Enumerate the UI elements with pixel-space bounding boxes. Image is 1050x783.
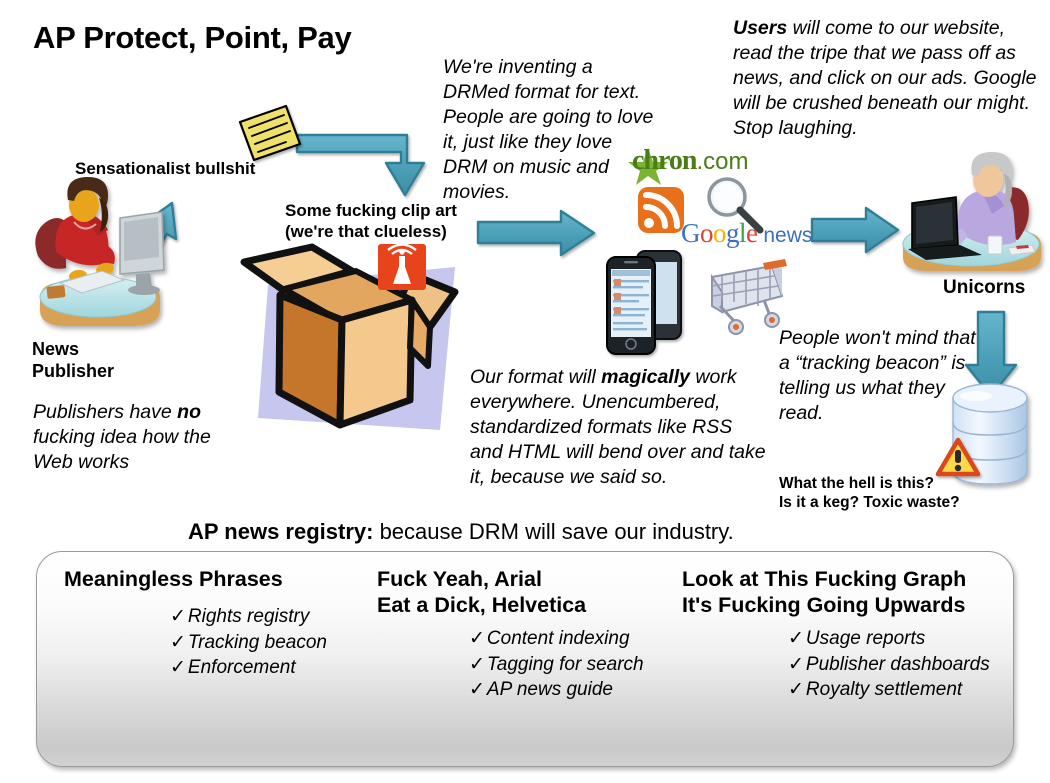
- label-news-publisher-line1: News: [32, 338, 114, 360]
- google-letter-g2: g: [726, 218, 739, 248]
- check-icon: ✓: [469, 654, 485, 675]
- arrow-right-1-icon: [478, 211, 594, 255]
- panel-column-meaningless-phrases: Meaningless Phrases ✓Rights registry ✓Tr…: [64, 566, 327, 681]
- callout-format-magically-works: Our format will magically work everywher…: [470, 365, 770, 490]
- col3-heading-line2: It's Fucking Going Upwards: [682, 592, 990, 618]
- col3-bullet-0: ✓Usage reports: [788, 626, 990, 652]
- callout-publishers-emphasis: no: [177, 401, 201, 423]
- callout-publishers-no-idea: Publishers have no fucking idea how the …: [33, 400, 243, 475]
- check-icon: ✓: [788, 679, 804, 700]
- col3-bullet-0-label: Usage reports: [806, 628, 925, 649]
- check-icon: ✓: [469, 679, 485, 700]
- col2-bullet-0: ✓Content indexing: [469, 626, 644, 652]
- shopping-cart-clipart: [712, 259, 787, 334]
- label-whatthehell-line1: What the hell is this?: [779, 474, 960, 493]
- col1-bullet-1: ✓Tracking beacon: [170, 630, 327, 656]
- col2-bullet-1: ✓Tagging for search: [469, 652, 644, 678]
- page-title: AP Protect, Point, Pay: [33, 20, 351, 56]
- google-letter-g1: G: [681, 218, 700, 248]
- col1-bullet-2: ✓Enforcement: [170, 655, 327, 681]
- col2-heading: Fuck Yeah, Arial Eat a Dick, Helvetica: [377, 566, 644, 618]
- google-news-logo: Google news: [681, 218, 812, 249]
- callout-users-will-come: Users will come to our website, read the…: [733, 16, 1038, 141]
- google-letter-o1: o: [700, 218, 713, 248]
- col3-bullet-2-label: Royalty settlement: [806, 679, 962, 700]
- arrow-up-right-icon: [128, 203, 176, 267]
- col2-bullet-1-label: Tagging for search: [487, 654, 644, 675]
- google-letter-l: l: [739, 218, 746, 248]
- callout-format-a: Our format will: [470, 366, 601, 388]
- col3-bullet-1-label: Publisher dashboards: [806, 654, 990, 675]
- panel-column-graph: Look at This Fucking Graph It's Fucking …: [682, 566, 990, 703]
- col3-bullets: ✓Usage reports ✓Publisher dashboards ✓Ro…: [788, 626, 990, 703]
- col2-heading-line1: Fuck Yeah, Arial: [377, 566, 644, 592]
- col1-heading: Meaningless Phrases: [64, 566, 327, 592]
- callout-format-emphasis: magically: [601, 366, 690, 388]
- label-news-publisher: News Publisher: [32, 338, 114, 382]
- check-icon: ✓: [170, 632, 186, 653]
- col2-bullet-0-label: Content indexing: [487, 628, 630, 649]
- callout-inventing-drmed-format: We're inventing a DRMed format for text.…: [443, 55, 658, 205]
- col1-body: ✓Rights registry ✓Tracking beacon ✓Enfor…: [64, 604, 327, 681]
- label-what-the-hell-is-this: What the hell is this? Is it a keg? Toxi…: [779, 474, 960, 512]
- col3-heading-line1: Look at This Fucking Graph: [682, 566, 990, 592]
- chron-tld: .com: [697, 148, 749, 175]
- col1-bullet-0: ✓Rights registry: [170, 604, 327, 630]
- label-unicorns: Unicorns: [943, 277, 1025, 299]
- google-letter-e: e: [746, 218, 757, 248]
- col2-heading-line2: Eat a Dick, Helvetica: [377, 592, 644, 618]
- col1-bullet-0-label: Rights registry: [188, 606, 309, 627]
- callout-publishers-c: fucking idea how the Web works: [33, 426, 211, 473]
- col2-bullet-2: ✓AP news guide: [469, 677, 644, 703]
- col1-bullets: ✓Rights registry ✓Tracking beacon ✓Enfor…: [170, 604, 327, 681]
- check-icon: ✓: [170, 606, 186, 627]
- box-shadow-shape: [258, 267, 455, 430]
- warning-triangle-icon: [938, 440, 978, 474]
- label-news-publisher-line2: Publisher: [32, 360, 114, 382]
- unicorns-laptop-clipart: [903, 152, 1041, 271]
- arrow-right-2-icon: [812, 208, 898, 252]
- col2-bullet-2-label: AP news guide: [487, 679, 613, 700]
- smartphones-clipart: [607, 251, 681, 354]
- yellow-note-icon: [240, 106, 300, 160]
- callout-users-emphasis: Users: [733, 17, 787, 39]
- check-icon: ✓: [170, 657, 186, 678]
- slide-canvas: AP Protect, Point, Pay: [0, 0, 1050, 783]
- google-letter-o2: o: [713, 218, 726, 248]
- cardboard-box-clipart: [244, 247, 455, 425]
- col1-bullet-2-label: Enforcement: [188, 657, 296, 678]
- col2-bullets: ✓Content indexing ✓Tagging for search ✓A…: [469, 626, 644, 703]
- col3-icon-slot: [682, 627, 778, 701]
- col1-icon-slot: [64, 605, 160, 679]
- bottom-panel: Meaningless Phrases ✓Rights registry ✓Tr…: [36, 551, 1014, 767]
- label-clipart-line2: (we're that clueless): [285, 221, 457, 242]
- check-icon: ✓: [788, 654, 804, 675]
- arrow-elbow-down-icon: [297, 135, 424, 195]
- label-clipart-line1: Some fucking clip art: [285, 200, 457, 221]
- col3-bullet-1: ✓Publisher dashboards: [788, 652, 990, 678]
- callout-publishers-a: Publishers have: [33, 401, 177, 423]
- col1-bullet-1-label: Tracking beacon: [188, 632, 327, 653]
- callout-tracking-beacon: People won't mind that a “tracking beaco…: [779, 326, 979, 426]
- check-icon: ✓: [469, 628, 485, 649]
- label-sensationalist-bullshit: Sensationalist bullshit: [75, 158, 255, 179]
- chron-wordmark: chron: [632, 145, 697, 176]
- col2-body: ✓Content indexing ✓Tagging for search ✓A…: [377, 626, 644, 703]
- panel-column-fonts: Fuck Yeah, Arial Eat a Dick, Helvetica ✓…: [377, 566, 644, 703]
- check-icon: ✓: [788, 628, 804, 649]
- label-whatthehell-line2: Is it a keg? Toxic waste?: [779, 493, 960, 512]
- news-publisher-clipart: [35, 177, 164, 326]
- col3-body: ✓Usage reports ✓Publisher dashboards ✓Ro…: [682, 626, 990, 703]
- chron-com-logo: chron.com: [632, 145, 749, 177]
- col3-bullet-2: ✓Royalty settlement: [788, 677, 990, 703]
- registry-bold: AP news registry:: [188, 519, 373, 544]
- ap-news-registry-line: AP news registry: because DRM will save …: [188, 519, 734, 545]
- col2-icon-slot: [377, 627, 459, 701]
- rss-tower-icon: [378, 244, 426, 290]
- registry-rest: because DRM will save our industry.: [373, 519, 733, 544]
- label-some-clip-art: Some fucking clip art (we're that cluele…: [285, 200, 457, 242]
- col1-heading-line1: Meaningless Phrases: [64, 566, 327, 592]
- col3-heading: Look at This Fucking Graph It's Fucking …: [682, 566, 990, 618]
- google-news-word: news: [758, 224, 813, 247]
